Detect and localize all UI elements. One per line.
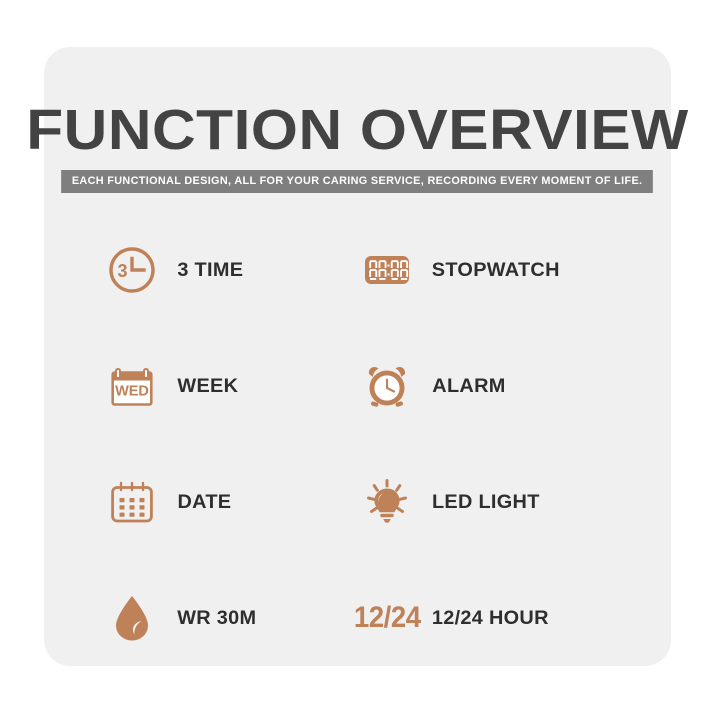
svg-text:3: 3 xyxy=(117,261,127,281)
feature-grid: 3 3 TIME xyxy=(104,212,614,676)
digital-stopwatch-icon xyxy=(359,242,415,298)
alarm-clock-icon xyxy=(359,358,415,414)
feature-item-wr-30m[interactable]: WR 30M xyxy=(104,560,359,676)
feature-label: 12/24 HOUR xyxy=(432,607,549,630)
feature-item-stopwatch[interactable]: STOPWATCH xyxy=(359,212,614,328)
feature-item-alarm[interactable]: ALARM xyxy=(359,328,614,444)
feature-label: WR 30M xyxy=(177,607,256,630)
feature-label: STOPWATCH xyxy=(432,259,560,282)
page-title: FUNCTION OVERVIEW xyxy=(25,102,690,159)
calendar-week-icon: WED xyxy=(104,358,160,414)
feature-item-12-24-hour[interactable]: 12/24 12/24 HOUR xyxy=(359,560,614,676)
function-overview-card: FUNCTION OVERVIEW EACH FUNCTIONAL DESIGN… xyxy=(44,47,671,666)
twelve-twentyfour-icon-text: 12/24 xyxy=(354,603,421,633)
subtitle-banner-wrap: EACH FUNCTIONAL DESIGN, ALL FOR YOUR CAR… xyxy=(44,170,671,193)
feature-item-week[interactable]: WED WEEK xyxy=(104,328,359,444)
feature-label: LED LIGHT xyxy=(432,491,540,514)
feature-item-led-light[interactable]: LED LIGHT xyxy=(359,444,614,560)
feature-label: DATE xyxy=(177,491,231,514)
feature-label: ALARM xyxy=(432,375,505,398)
clock-3-time-icon: 3 xyxy=(104,242,160,298)
water-drop-icon xyxy=(104,590,160,646)
feature-item-date[interactable]: DATE xyxy=(104,444,359,560)
light-bulb-icon xyxy=(359,474,415,530)
feature-item-3-time[interactable]: 3 3 TIME xyxy=(104,212,359,328)
feature-label: 3 TIME xyxy=(177,259,243,282)
twelve-twentyfour-icon: 12/24 xyxy=(359,590,415,646)
screenshot-root: FUNCTION OVERVIEW EACH FUNCTIONAL DESIGN… xyxy=(0,0,713,713)
svg-text:WED: WED xyxy=(115,384,149,400)
calendar-date-icon xyxy=(104,474,160,530)
subtitle-banner: EACH FUNCTIONAL DESIGN, ALL FOR YOUR CAR… xyxy=(62,170,654,193)
feature-label: WEEK xyxy=(177,375,238,398)
